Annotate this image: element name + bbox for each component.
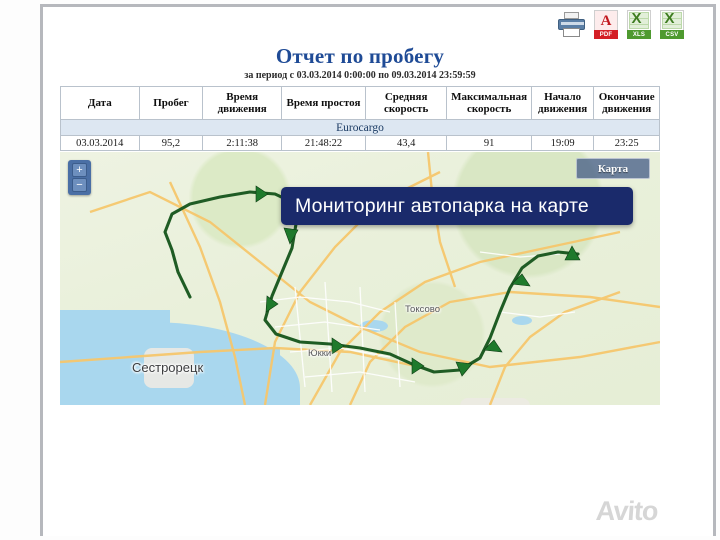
promo-banner: Мониторинг автопарка на карте [281,187,633,225]
table-head: Дата Пробег Времядвижения Время простоя … [61,87,660,120]
map-zoom-control[interactable]: + − [68,160,91,195]
printer-paper-out [563,28,580,37]
printer-paper-top [564,12,579,19]
map-label-sestroretsk: Сестрорецк [132,360,203,375]
col-header-move-end: Окончаниедвижения [594,87,660,120]
cell-max-speed: 91 [447,136,532,151]
export-toolbar: A PDF X XLS X CSV [558,10,684,40]
col-header-idle-time: Время простоя [282,87,366,120]
export-pdf-icon[interactable]: A PDF [594,10,618,39]
page-title: Отчет по пробегу [60,44,660,69]
pdf-acrobat-glyph: A [598,13,614,29]
report-period-subtitle: за период с 03.03.2014 0:00:00 по 09.03.… [60,70,660,81]
cell-mileage: 95,2 [139,136,203,151]
cell-move-start: 19:09 [531,136,593,151]
screenshot-root: A PDF X XLS X CSV Отчет по пробегу за пе… [0,0,720,540]
vehicle-group-label: Eurocargo [61,120,660,136]
map-label-toksovo: Токсово [405,304,440,315]
col-header-move-start: Началодвижения [531,87,593,120]
zoom-out-button[interactable]: − [72,178,87,192]
col-header-avg-speed: Средняяскорость [365,87,446,120]
cell-idle-time: 21:48:22 [282,136,366,151]
export-xls-icon[interactable]: X XLS [627,10,651,39]
col-header-moving-time: Времядвижения [203,87,282,120]
cell-move-end: 23:25 [594,136,660,151]
csv-label: CSV [660,30,684,39]
xls-label: XLS [627,30,651,39]
map-minor-roads [260,252,575,392]
vehicle-group-row: Eurocargo [61,120,660,136]
col-header-mileage: Пробег [139,87,203,120]
cell-avg-speed: 43,4 [365,136,446,151]
print-icon[interactable] [558,10,585,40]
xls-x-glyph: X [630,10,643,27]
table-row[interactable]: 03.03.2014 95,2 2:11:38 21:48:22 43,4 91… [61,136,660,151]
export-csv-icon[interactable]: X CSV [660,10,684,39]
csv-x-glyph: X [663,10,676,27]
map-label-yukki: Юкки [308,348,331,359]
map-type-button[interactable]: Карта [576,158,650,179]
zoom-in-button[interactable]: + [72,163,87,177]
col-header-max-speed: Максимальнаяскорость [447,87,532,120]
cell-moving-time: 2:11:38 [203,136,282,151]
pdf-label: PDF [594,30,618,39]
promo-banner-text: Мониторинг автопарка на карте [295,195,589,218]
printer-glyph [558,12,585,38]
col-header-date: Дата [61,87,140,120]
cell-date: 03.03.2014 [61,136,140,151]
table-header-row: Дата Пробег Времядвижения Время простоя … [61,87,660,120]
